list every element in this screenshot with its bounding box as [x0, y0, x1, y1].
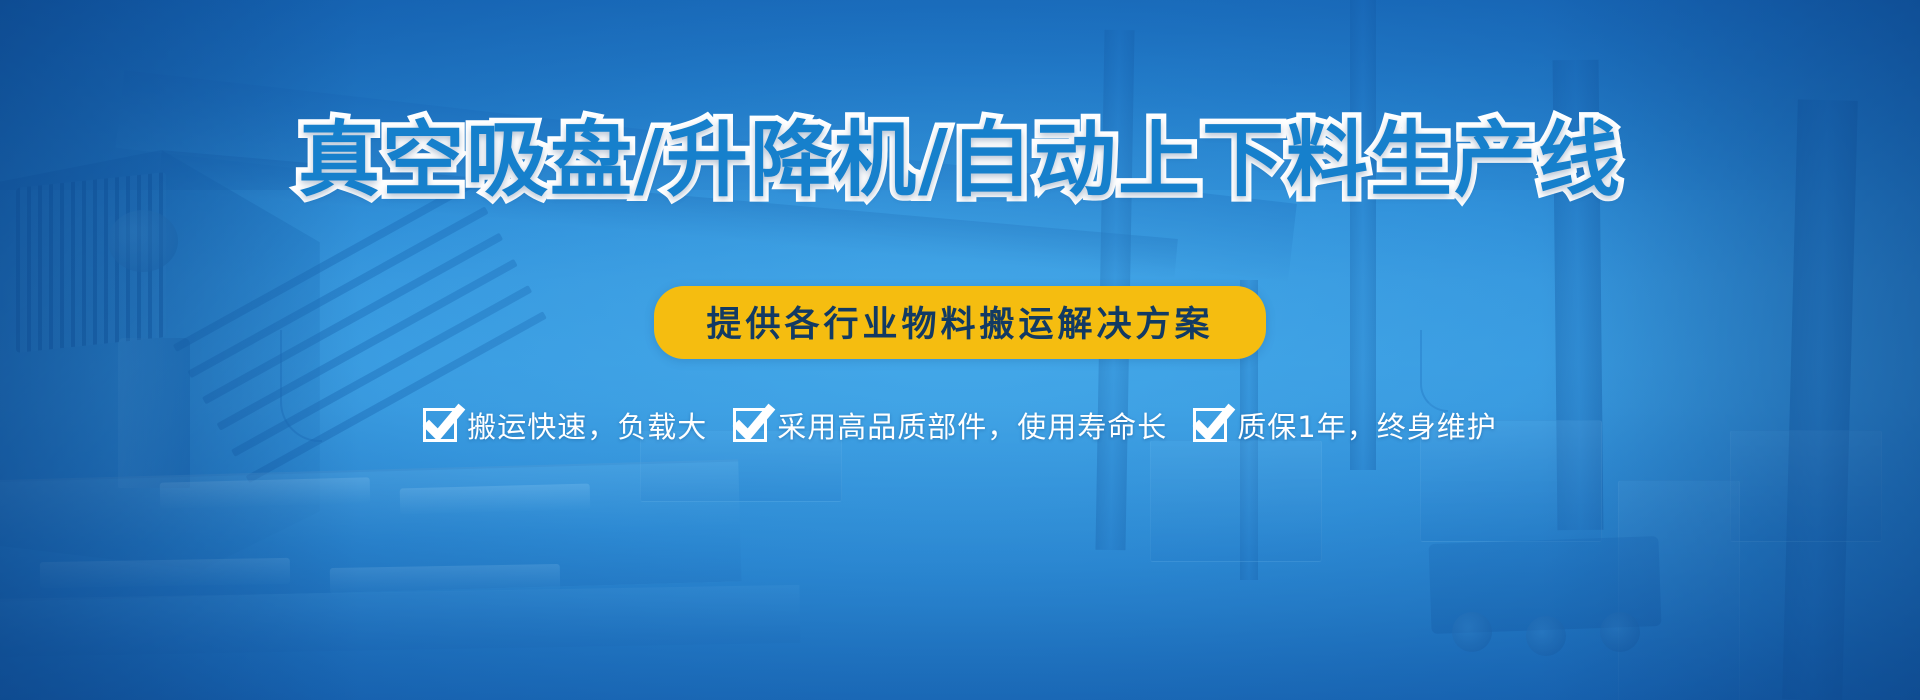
check-square-icon	[423, 408, 457, 442]
check-square-icon	[1193, 408, 1227, 442]
feature-label: 搬运快速，负载大	[467, 404, 707, 446]
feature-item: 搬运快速，负载大	[423, 404, 707, 446]
subtitle-pill: 提供各行业物料搬运解决方案	[654, 286, 1265, 359]
feature-label: 质保1年，终身维护	[1237, 404, 1496, 446]
feature-item: 采用高品质部件，使用寿命长	[733, 404, 1167, 446]
subtitle-row: 提供各行业物料搬运解决方案	[0, 286, 1920, 359]
feature-label: 采用高品质部件，使用寿命长	[777, 404, 1167, 446]
banner-content: 真空吸盘/升降机/自动上下料生产线 提供各行业物料搬运解决方案 搬运快速，负载大	[0, 0, 1920, 700]
hero-banner: 真空吸盘/升降机/自动上下料生产线 提供各行业物料搬运解决方案 搬运快速，负载大	[0, 0, 1920, 700]
feature-list: 搬运快速，负载大 采用高品质部件，使用寿命长 质保1年，终身维护	[0, 404, 1920, 446]
check-square-icon	[733, 408, 767, 442]
feature-item: 质保1年，终身维护	[1193, 404, 1496, 446]
page-title: 真空吸盘/升降机/自动上下料生产线	[0, 118, 1920, 204]
